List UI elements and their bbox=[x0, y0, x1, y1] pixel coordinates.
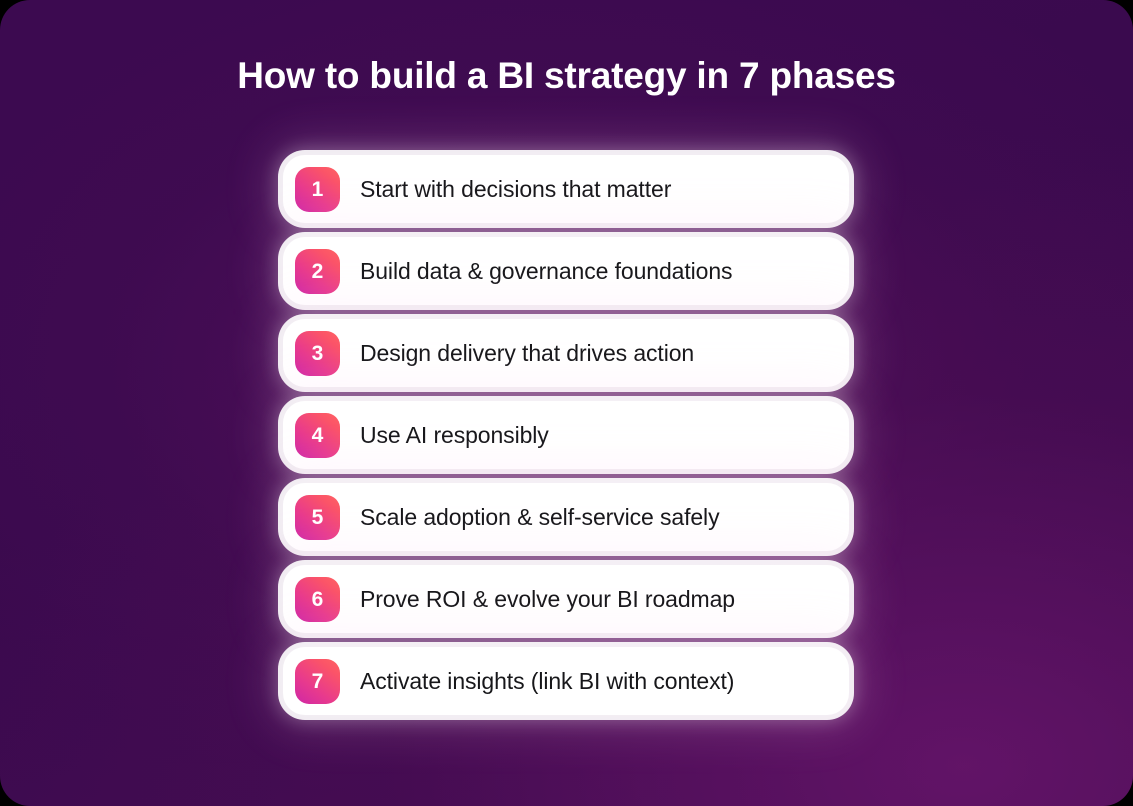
phase-card[interactable]: 5Scale adoption & self-service safely bbox=[283, 483, 849, 551]
phase-label: Build data & governance foundations bbox=[360, 257, 732, 286]
infographic-canvas: How to build a BI strategy in 7 phases 1… bbox=[0, 0, 1133, 806]
phase-number-badge: 3 bbox=[295, 331, 340, 376]
phase-number-badge: 1 bbox=[295, 167, 340, 212]
page-title: How to build a BI strategy in 7 phases bbox=[0, 54, 1133, 98]
phase-card[interactable]: 3Design delivery that drives action bbox=[283, 319, 849, 387]
phase-number-badge: 7 bbox=[295, 659, 340, 704]
phase-list: 1Start with decisions that matter2Build … bbox=[283, 155, 849, 715]
phase-card[interactable]: 4Use AI responsibly bbox=[283, 401, 849, 469]
phase-label: Prove ROI & evolve your BI roadmap bbox=[360, 585, 735, 614]
phase-number-badge: 4 bbox=[295, 413, 340, 458]
phase-number-badge: 6 bbox=[295, 577, 340, 622]
title-container: How to build a BI strategy in 7 phases bbox=[0, 54, 1133, 98]
phase-label: Use AI responsibly bbox=[360, 421, 549, 450]
phase-label: Activate insights (link BI with context) bbox=[360, 667, 734, 696]
phase-number-badge: 5 bbox=[295, 495, 340, 540]
phase-card[interactable]: 2Build data & governance foundations bbox=[283, 237, 849, 305]
phase-card[interactable]: 6Prove ROI & evolve your BI roadmap bbox=[283, 565, 849, 633]
phase-card[interactable]: 1Start with decisions that matter bbox=[283, 155, 849, 223]
phase-number-badge: 2 bbox=[295, 249, 340, 294]
phase-label: Scale adoption & self-service safely bbox=[360, 503, 719, 532]
phase-label: Start with decisions that matter bbox=[360, 175, 671, 204]
phase-card[interactable]: 7Activate insights (link BI with context… bbox=[283, 647, 849, 715]
phase-label: Design delivery that drives action bbox=[360, 339, 694, 368]
